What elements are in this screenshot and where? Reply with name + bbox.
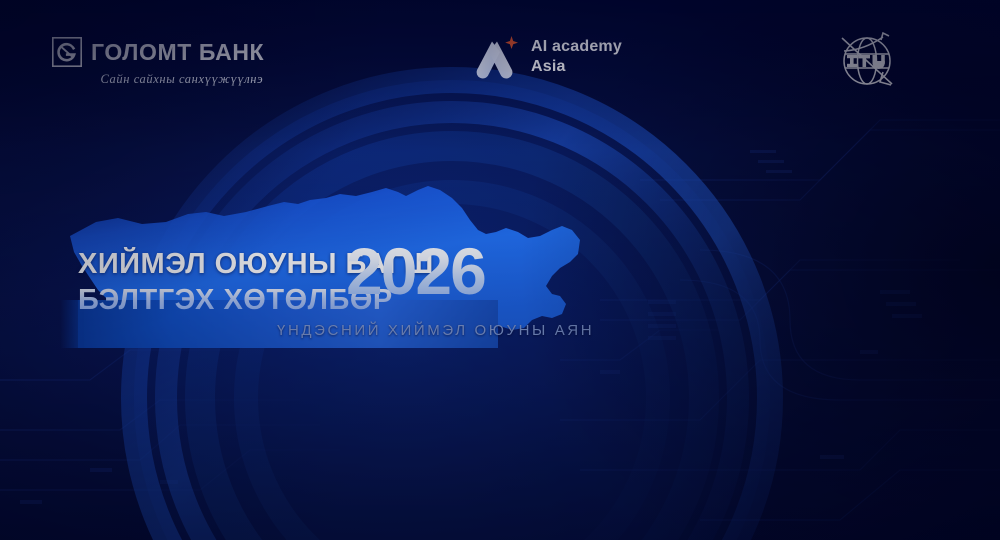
background-vignette (0, 0, 1000, 540)
promo-banner: ХИЙМЭЛ ОЮУНЫ БАГШ БЭЛТГЭХ ХӨТӨЛБӨР 2026 … (0, 0, 1000, 540)
